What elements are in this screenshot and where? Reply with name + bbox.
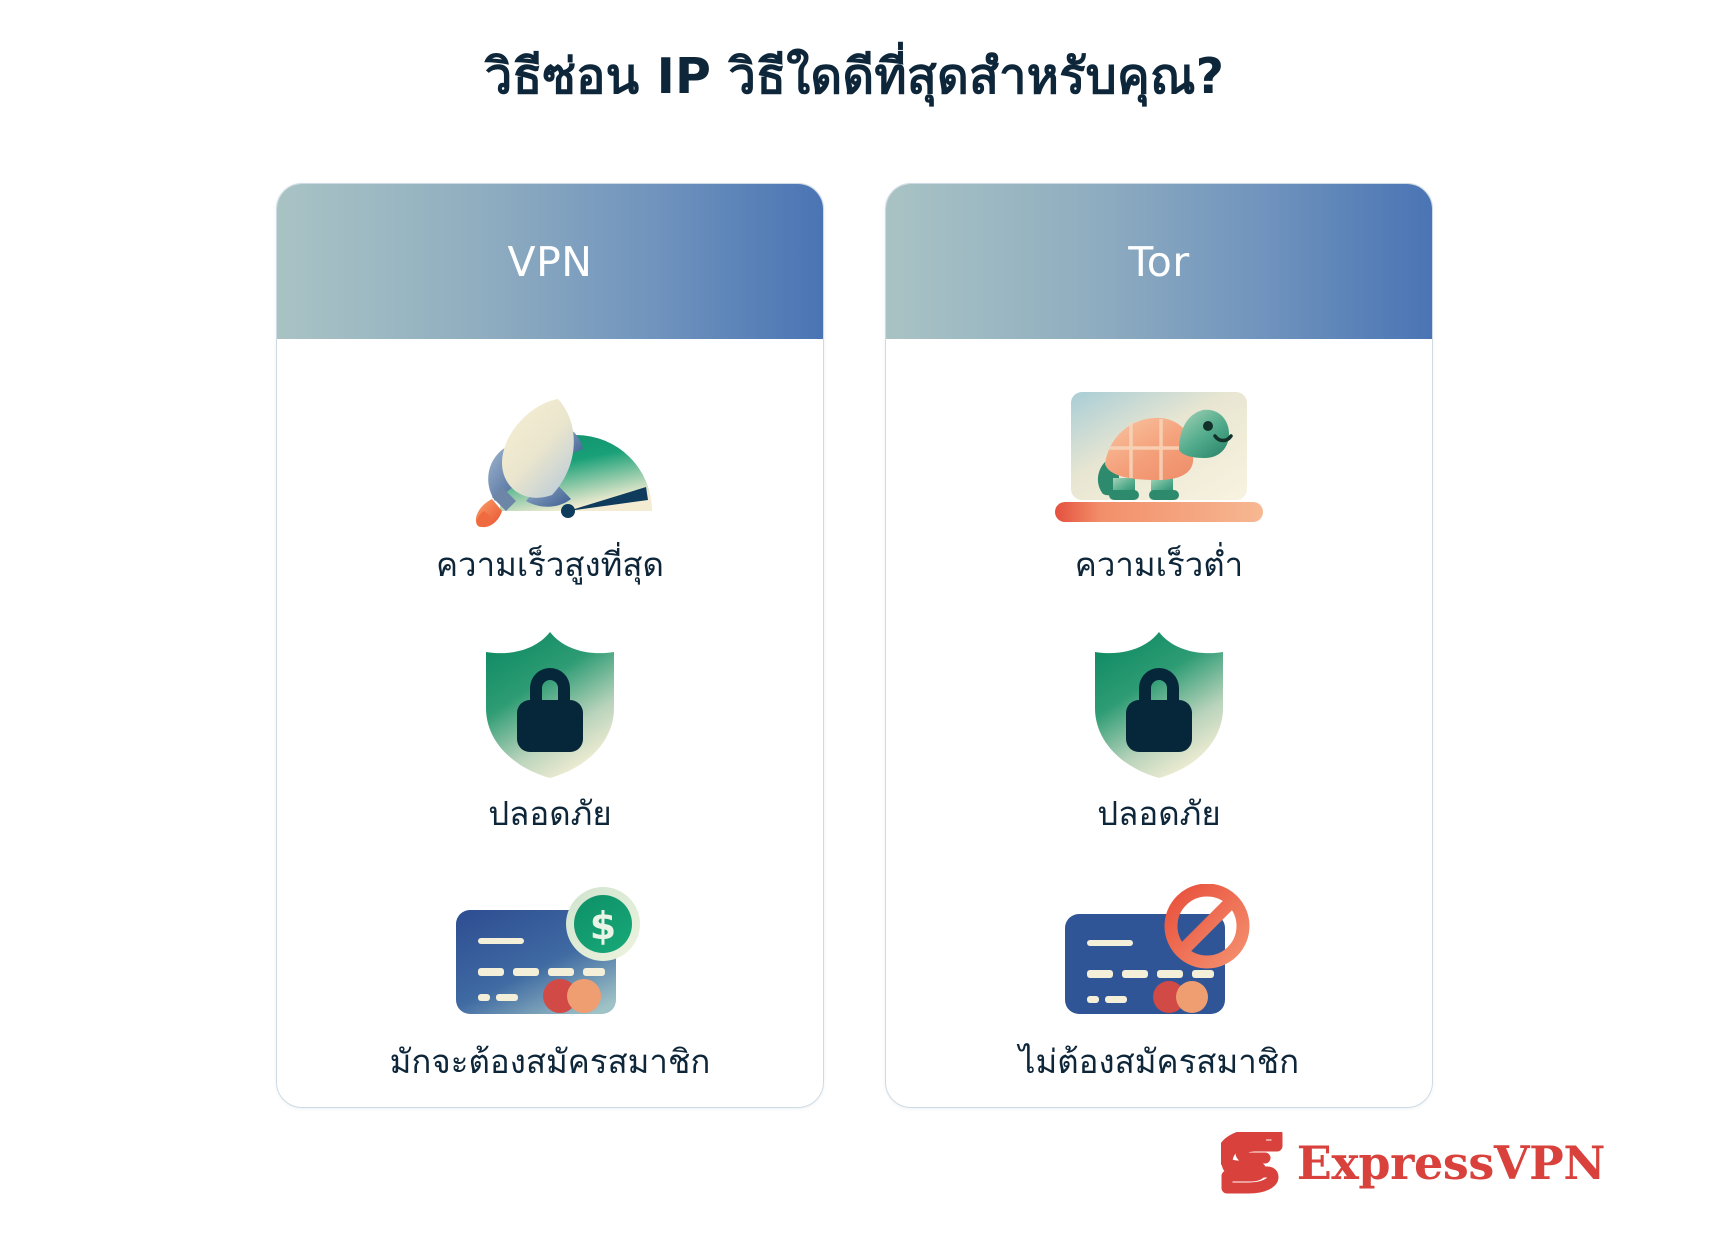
card-tor-body: ความเร็วต่ำ — [886, 339, 1432, 1108]
feature-vpn-secure: ปลอดภัย — [295, 630, 805, 837]
rocket-speedometer-icon — [440, 383, 660, 531]
feature-vpn-subscription: $ มักจะต้องสมัครสมาชิก — [295, 880, 805, 1085]
feature-tor-speed: ความเร็วต่ำ — [904, 383, 1414, 588]
brand-logo: ExpressVPN — [1221, 1132, 1605, 1194]
infographic-page: วิธีซ่อน IP วิธีใดดีที่สุดสำหรับคุณ? VPN — [0, 0, 1709, 1240]
card-vpn-header: VPN — [277, 184, 823, 339]
feature-vpn-speed: ความเร็วสูงที่สุด — [295, 383, 805, 588]
page-title: วิธีซ่อน IP วิธีใดดีที่สุดสำหรับคุณ? — [0, 46, 1709, 107]
svg-text:$: $ — [590, 904, 616, 948]
feature-tor-secure-label: ปลอดภัย — [1097, 792, 1221, 837]
shield-lock-icon — [1093, 630, 1225, 780]
feature-tor-speed-label: ความเร็วต่ำ — [1075, 543, 1243, 588]
card-tor: Tor — [885, 183, 1433, 1108]
feature-tor-subscription-label: ไม่ต้องสมัครสมาชิก — [1019, 1040, 1299, 1085]
credit-card-blocked-icon — [1059, 880, 1259, 1028]
expressvpn-logo-icon — [1221, 1132, 1283, 1194]
card-tor-header: Tor — [886, 184, 1432, 339]
feature-vpn-secure-label: ปลอดภัย — [488, 792, 612, 837]
brand-name: ExpressVPN — [1297, 1140, 1605, 1186]
turtle-laptop-icon — [1053, 383, 1265, 531]
comparison-cards: VPN — [0, 183, 1709, 1108]
credit-card-dollar-icon: $ — [450, 880, 650, 1028]
feature-tor-secure: ปลอดภัย — [904, 630, 1414, 837]
shield-lock-icon — [484, 630, 616, 780]
card-vpn-body: ความเร็วสูงที่สุด — [277, 339, 823, 1108]
feature-tor-subscription: ไม่ต้องสมัครสมาชิก — [904, 880, 1414, 1085]
feature-vpn-speed-label: ความเร็วสูงที่สุด — [436, 543, 664, 588]
card-vpn: VPN — [276, 183, 824, 1108]
feature-vpn-subscription-label: มักจะต้องสมัครสมาชิก — [390, 1040, 711, 1085]
